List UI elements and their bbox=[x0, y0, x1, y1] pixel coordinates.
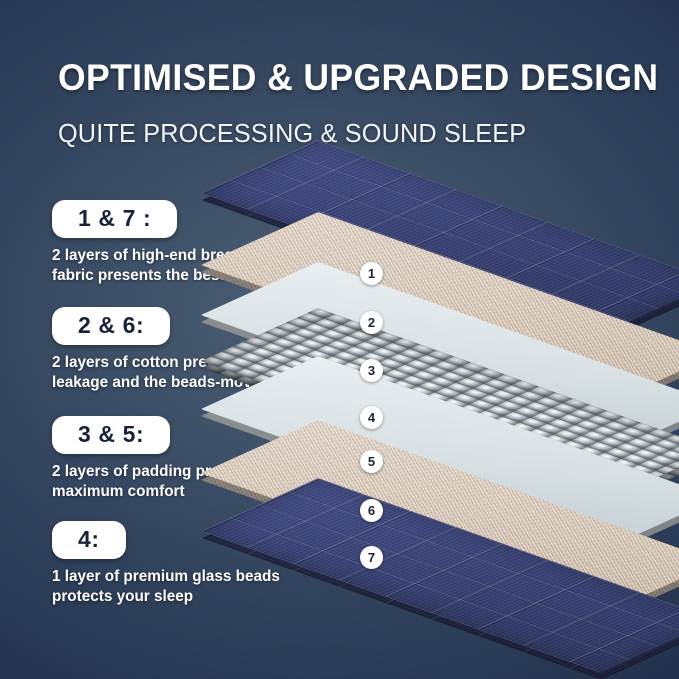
layer-badge-3: 3 bbox=[360, 359, 383, 382]
layer-badge-1: 1 bbox=[360, 262, 383, 285]
layer-badge-2: 2 bbox=[360, 311, 383, 334]
layer-badge-7: 7 bbox=[360, 546, 383, 569]
product-infographic: OPTIMISED & UPGRADED DESIGN QUITE PROCES… bbox=[0, 0, 679, 679]
layer-badge-4: 4 bbox=[360, 406, 383, 429]
layer-badge-5: 5 bbox=[360, 450, 383, 473]
layer-surface bbox=[201, 478, 679, 673]
exploded-layer-diagram: 1 2 3 4 5 6 7 bbox=[0, 0, 679, 679]
layer-badge-6: 6 bbox=[360, 499, 383, 522]
